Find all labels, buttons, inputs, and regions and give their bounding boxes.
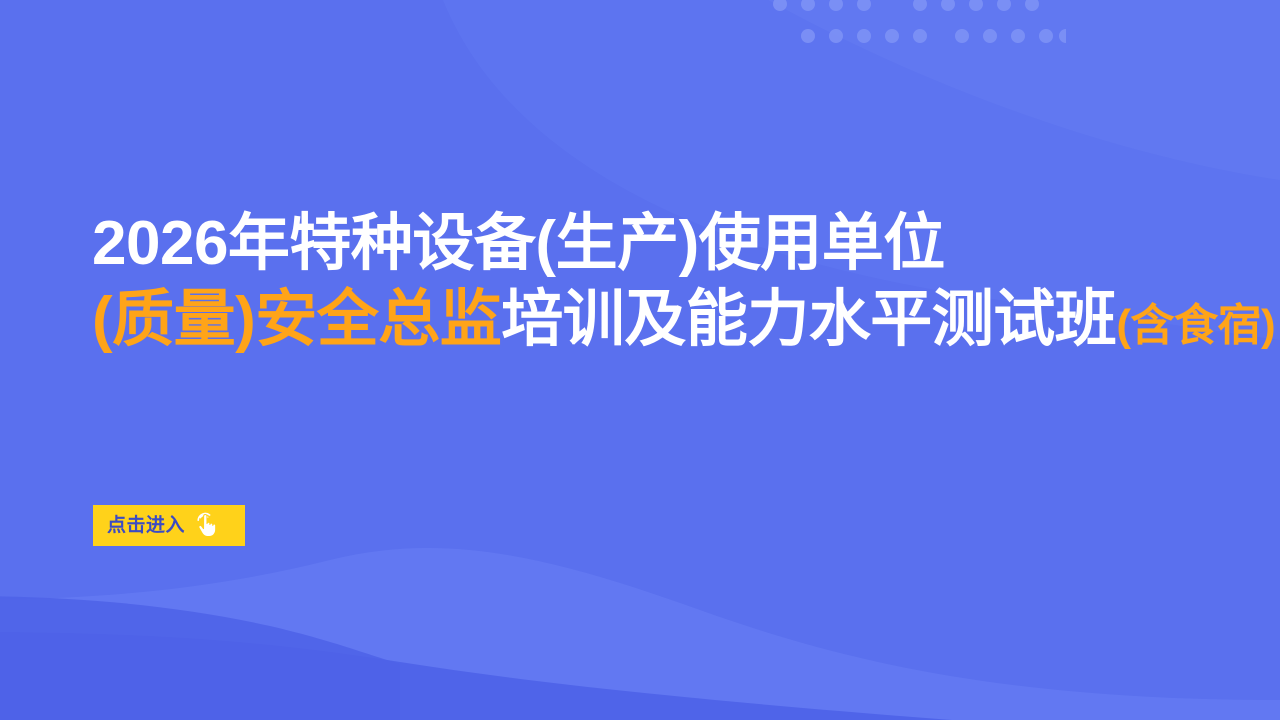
- wave-curve-bottom-dark: [0, 632, 1280, 720]
- wave-curve-bottom-light: [0, 548, 1280, 720]
- hand-pointer-icon: [194, 512, 220, 539]
- promo-banner: 2026年特种设备(生产)使用单位 (质量)安全总监培训及能力水平测试班(含食宿…: [0, 0, 1280, 720]
- banner-title-suffix-segment: (含食宿): [1116, 301, 1275, 350]
- dot-grid-pattern: [766, 0, 1066, 46]
- banner-title-accent-segment: (质量)安全总监: [92, 285, 501, 354]
- enter-button[interactable]: 点击进入: [93, 505, 245, 546]
- banner-title-line-2: (质量)安全总监培训及能力水平测试班(含食宿): [92, 282, 1242, 364]
- wave-curve-top-right: [700, 0, 1280, 180]
- wave-curve-bottom-left: [0, 596, 400, 720]
- enter-button-label: 点击进入: [107, 516, 185, 535]
- banner-title-white-segment: 培训及能力水平测试班: [501, 285, 1116, 354]
- banner-title-block: 2026年特种设备(生产)使用单位 (质量)安全总监培训及能力水平测试班(含食宿…: [92, 206, 1242, 364]
- banner-title-line-1: 2026年特种设备(生产)使用单位: [92, 206, 1242, 282]
